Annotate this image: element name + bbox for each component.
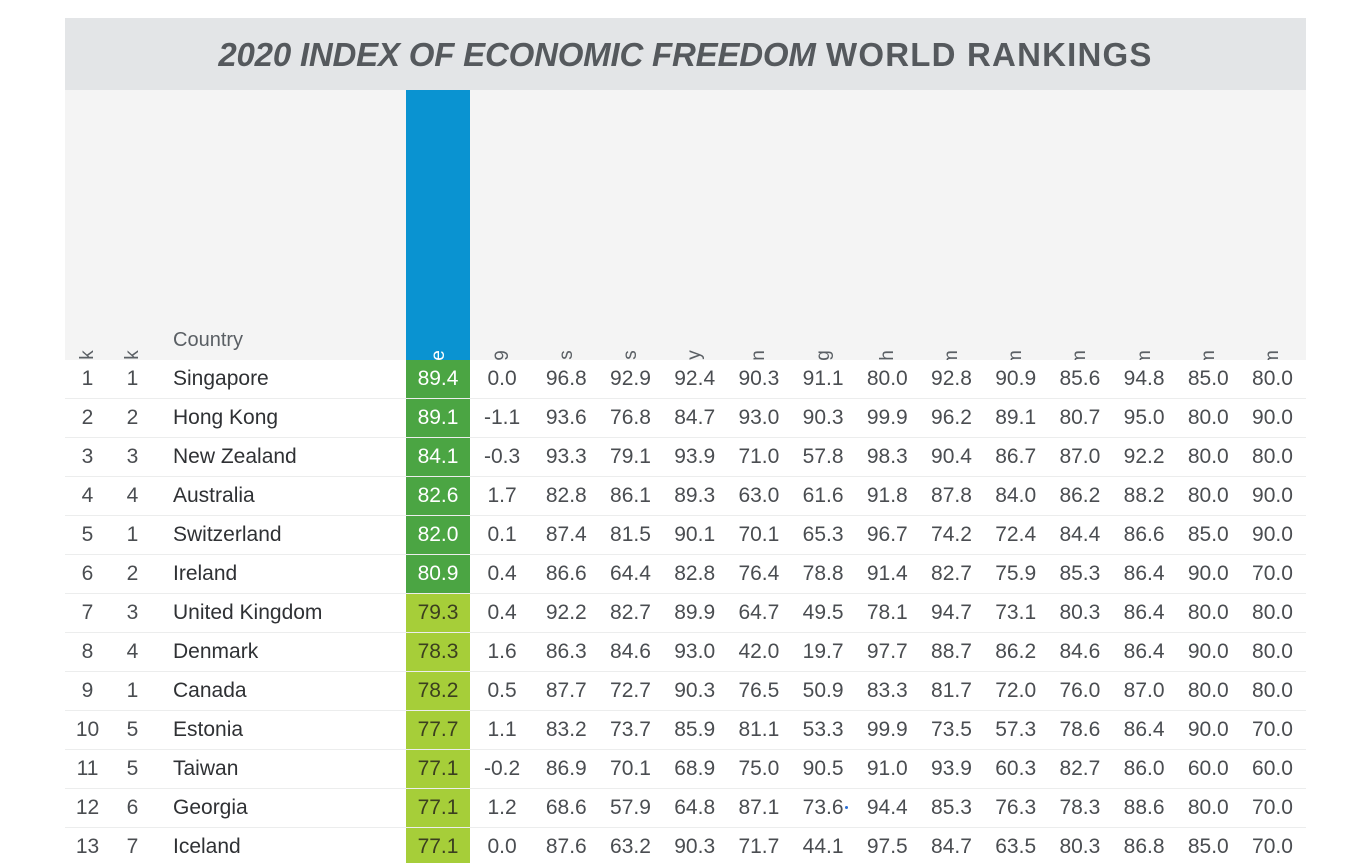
cell-business_freedom: 81.7 (919, 672, 983, 710)
cell-government_integrity: 84.7 (663, 399, 727, 437)
cell-fiscal_health: 96.7 (855, 516, 919, 554)
cell-monetary_freedom: 87.0 (1048, 438, 1112, 476)
cell-regional-rank: 6 (110, 789, 155, 827)
cell-trade_freedom: 88.2 (1112, 477, 1176, 515)
cell-judicial_effectiveness: 72.7 (598, 672, 662, 710)
cell-monetary_freedom: 82.7 (1048, 750, 1112, 788)
cell-business_freedom: 93.9 (919, 750, 983, 788)
cell-trade_freedom: 86.0 (1112, 750, 1176, 788)
cell-labor_freedom: 89.1 (984, 399, 1048, 437)
cell-country: Taiwan (173, 750, 406, 788)
cell-property_rights: 86.3 (534, 633, 598, 671)
cell-trade_freedom: 86.4 (1112, 594, 1176, 632)
cell-world-rank: 9 (65, 672, 110, 710)
cell-tax_burden: 76.4 (727, 555, 791, 593)
cell-business_freedom: 88.7 (919, 633, 983, 671)
cell-monetary_freedom: 76.0 (1048, 672, 1112, 710)
cell-tax_burden: 70.1 (727, 516, 791, 554)
cell-investment_freedom: 80.0 (1176, 594, 1240, 632)
cell-financial_freedom: 80.0 (1240, 360, 1304, 398)
table-row[interactable]: 62Ireland80.90.486.664.482.876.478.891.4… (65, 555, 1306, 594)
cell-business_freedom: 90.4 (919, 438, 983, 476)
cell-trade_freedom: 86.4 (1112, 555, 1176, 593)
cell-investment_freedom: 80.0 (1176, 477, 1240, 515)
cell-fiscal_health: 99.9 (855, 399, 919, 437)
cell-government_integrity: 82.8 (663, 555, 727, 593)
cell-property_rights: 87.6 (534, 828, 598, 863)
cell-world-rank: 3 (65, 438, 110, 476)
cell-change_from_2019: 0.0 (470, 360, 534, 398)
ranking-table-page: 2020 INDEX OF ECONOMIC FREEDOM WORLD RAN… (0, 0, 1367, 863)
cell-financial_freedom: 90.0 (1240, 399, 1304, 437)
cell-investment_freedom: 80.0 (1176, 438, 1240, 476)
cell-tax_burden: 42.0 (727, 633, 791, 671)
table-row[interactable]: 137Iceland77.10.087.663.290.371.744.197.… (65, 828, 1306, 863)
cell-judicial_effectiveness: 70.1 (598, 750, 662, 788)
cell-regional-rank: 2 (110, 555, 155, 593)
cell-investment_freedom: 60.0 (1176, 750, 1240, 788)
cell-investment_freedom: 80.0 (1176, 672, 1240, 710)
cell-overall-score: 77.1 (406, 750, 470, 788)
cell-world-rank: 5 (65, 516, 110, 554)
cell-judicial_effectiveness: 84.6 (598, 633, 662, 671)
cell-judicial_effectiveness: 81.5 (598, 516, 662, 554)
cell-country: Australia (173, 477, 406, 515)
cell-government_spending: 90.3 (791, 399, 855, 437)
cell-financial_freedom: 60.0 (1240, 750, 1304, 788)
cell-investment_freedom: 85.0 (1176, 828, 1240, 863)
cell-tax_burden: 71.0 (727, 438, 791, 476)
cell-monetary_freedom: 84.4 (1048, 516, 1112, 554)
cell-investment_freedom: 90.0 (1176, 711, 1240, 749)
cell-business_freedom: 96.2 (919, 399, 983, 437)
column-header-investment_freedom[interactable]: Investment Freedom (1176, 90, 1240, 360)
cell-fiscal_health: 91.0 (855, 750, 919, 788)
cell-world-rank: 13 (65, 828, 110, 863)
cell-labor_freedom: 86.7 (984, 438, 1048, 476)
cell-tax_burden: 64.7 (727, 594, 791, 632)
cell-country: New Zealand (173, 438, 406, 476)
cell-trade_freedom: 94.8 (1112, 360, 1176, 398)
cell-trade_freedom: 88.6 (1112, 789, 1176, 827)
cell-financial_freedom: 80.0 (1240, 438, 1304, 476)
cell-country: Singapore (173, 360, 406, 398)
cell-tax_burden: 81.1 (727, 711, 791, 749)
column-header-labor_freedom[interactable]: Labor Freedom (984, 90, 1048, 360)
cell-judicial_effectiveness: 76.8 (598, 399, 662, 437)
cell-overall-score: 89.1 (406, 399, 470, 437)
cell-judicial_effectiveness: 79.1 (598, 438, 662, 476)
cell-tax_burden: 93.0 (727, 399, 791, 437)
cell-world-rank: 2 (65, 399, 110, 437)
cell-government_integrity: 89.3 (663, 477, 727, 515)
cell-investment_freedom: 80.0 (1176, 399, 1240, 437)
cell-change_from_2019: 0.1 (470, 516, 534, 554)
column-header-judicial_effectiveness[interactable]: Judicial Effectiveness (598, 90, 662, 360)
cell-regional-rank: 1 (110, 516, 155, 554)
cell-investment_freedom: 90.0 (1176, 633, 1240, 671)
cell-business_freedom: 74.2 (919, 516, 983, 554)
cell-tax_burden: 75.0 (727, 750, 791, 788)
cell-change_from_2019: 0.0 (470, 828, 534, 863)
cell-tax_burden: 76.5 (727, 672, 791, 710)
cell-regional-rank: 5 (110, 750, 155, 788)
cell-labor_freedom: 76.3 (984, 789, 1048, 827)
cell-fiscal_health: 97.5 (855, 828, 919, 863)
cell-financial_freedom: 80.0 (1240, 672, 1304, 710)
cell-world-rank: 6 (65, 555, 110, 593)
cell-government_spending: 57.8 (791, 438, 855, 476)
cell-judicial_effectiveness: 63.2 (598, 828, 662, 863)
cell-government_integrity: 85.9 (663, 711, 727, 749)
page-title-emphasis: 2020 INDEX OF ECONOMIC FREEDOM (218, 36, 815, 73)
cell-change_from_2019: 1.1 (470, 711, 534, 749)
cell-change_from_2019: 1.2 (470, 789, 534, 827)
cell-fiscal_health: 98.3 (855, 438, 919, 476)
cell-property_rights: 87.7 (534, 672, 598, 710)
table-row[interactable]: 11Singapore89.40.096.892.992.490.391.180… (65, 360, 1306, 399)
column-header-change_from_2019[interactable]: Change from 2019 (470, 90, 534, 360)
cell-monetary_freedom: 80.3 (1048, 828, 1112, 863)
cell-tax_burden: 87.1 (727, 789, 791, 827)
cell-overall-score: 78.2 (406, 672, 470, 710)
cell-monetary_freedom: 78.6 (1048, 711, 1112, 749)
cell-country: Switzerland (173, 516, 406, 554)
cell-labor_freedom: 72.4 (984, 516, 1048, 554)
cell-change_from_2019: -0.2 (470, 750, 534, 788)
cell-property_rights: 93.6 (534, 399, 598, 437)
cell-financial_freedom: 90.0 (1240, 516, 1304, 554)
cell-country: Canada (173, 672, 406, 710)
cell-overall-score: 78.3 (406, 633, 470, 671)
cell-overall-score: 89.4 (406, 360, 470, 398)
cell-regional-rank: 4 (110, 477, 155, 515)
column-header-world_rank[interactable]: World Rank (65, 90, 110, 360)
cell-change_from_2019: -1.1 (470, 399, 534, 437)
cell-overall-score: 82.6 (406, 477, 470, 515)
column-header-overall_score[interactable]: Overall Score (406, 90, 470, 360)
cell-regional-rank: 3 (110, 594, 155, 632)
page-title-plain: WORLD RANKINGS (816, 36, 1153, 73)
page-title: 2020 INDEX OF ECONOMIC FREEDOM WORLD RAN… (218, 38, 1152, 71)
table-row[interactable]: 105Estonia77.71.183.273.785.981.153.399.… (65, 711, 1306, 750)
cell-regional-rank: 2 (110, 399, 155, 437)
cell-labor_freedom: 57.3 (984, 711, 1048, 749)
cell-fiscal_health: 94.4 (855, 789, 919, 827)
cell-trade_freedom: 87.0 (1112, 672, 1176, 710)
cell-government_spending: 49.5 (791, 594, 855, 632)
table-body: 11Singapore89.40.096.892.992.490.391.180… (65, 360, 1306, 863)
cell-government_spending: 90.5 (791, 750, 855, 788)
cell-change_from_2019: 0.4 (470, 555, 534, 593)
cell-government_integrity: 90.3 (663, 672, 727, 710)
cell-change_from_2019: 1.6 (470, 633, 534, 671)
cell-world-rank: 8 (65, 633, 110, 671)
cell-fiscal_health: 91.4 (855, 555, 919, 593)
cell-judicial_effectiveness: 86.1 (598, 477, 662, 515)
table-header-row: World RankRegional RankCountryOverall Sc… (65, 90, 1306, 360)
cell-government_spending: 91.1 (791, 360, 855, 398)
cell-trade_freedom: 86.4 (1112, 633, 1176, 671)
cell-monetary_freedom: 80.7 (1048, 399, 1112, 437)
cell-regional-rank: 3 (110, 438, 155, 476)
cell-government_integrity: 90.1 (663, 516, 727, 554)
table-row[interactable]: 126Georgia77.11.268.657.964.887.173.694.… (65, 789, 1306, 828)
cell-judicial_effectiveness: 57.9 (598, 789, 662, 827)
table-row[interactable]: 91Canada78.20.587.772.790.376.550.983.38… (65, 672, 1306, 711)
cell-government_integrity: 93.0 (663, 633, 727, 671)
table-title-band: 2020 INDEX OF ECONOMIC FREEDOM WORLD RAN… (65, 18, 1306, 90)
cell-monetary_freedom: 86.2 (1048, 477, 1112, 515)
table-row[interactable]: 84Denmark78.31.686.384.693.042.019.797.7… (65, 633, 1306, 672)
cell-labor_freedom: 63.5 (984, 828, 1048, 863)
cell-property_rights: 82.8 (534, 477, 598, 515)
cell-country: Ireland (173, 555, 406, 593)
cell-government_integrity: 93.9 (663, 438, 727, 476)
cell-regional-rank: 1 (110, 672, 155, 710)
cell-overall-score: 77.7 (406, 711, 470, 749)
cell-regional-rank: 5 (110, 711, 155, 749)
cell-country: Denmark (173, 633, 406, 671)
column-header-country[interactable]: Country (173, 329, 243, 352)
cell-trade_freedom: 86.6 (1112, 516, 1176, 554)
cell-tax_burden: 63.0 (727, 477, 791, 515)
cell-property_rights: 93.3 (534, 438, 598, 476)
cell-overall-score: 77.1 (406, 828, 470, 863)
cell-monetary_freedom: 78.3 (1048, 789, 1112, 827)
cell-world-rank: 11 (65, 750, 110, 788)
cell-change_from_2019: -0.3 (470, 438, 534, 476)
cell-government_integrity: 64.8 (663, 789, 727, 827)
column-header-tax_burden[interactable]: Tax Burden (727, 90, 791, 360)
cell-business_freedom: 94.7 (919, 594, 983, 632)
cell-property_rights: 83.2 (534, 711, 598, 749)
cell-government_spending: 44.1 (791, 828, 855, 863)
cell-property_rights: 92.2 (534, 594, 598, 632)
column-header-regional_rank[interactable]: Regional Rank (110, 90, 155, 360)
cell-fiscal_health: 83.3 (855, 672, 919, 710)
cell-government_spending: 19.7 (791, 633, 855, 671)
cell-judicial_effectiveness: 82.7 (598, 594, 662, 632)
cell-overall-score: 77.1 (406, 789, 470, 827)
cell-fiscal_health: 80.0 (855, 360, 919, 398)
cell-government_integrity: 68.9 (663, 750, 727, 788)
cell-financial_freedom: 80.0 (1240, 633, 1304, 671)
cell-change_from_2019: 0.5 (470, 672, 534, 710)
cell-trade_freedom: 95.0 (1112, 399, 1176, 437)
cell-country: Georgia (173, 789, 406, 827)
cell-regional-rank: 1 (110, 360, 155, 398)
page-top-margin (0, 0, 1367, 18)
cell-government_integrity: 89.9 (663, 594, 727, 632)
cell-judicial_effectiveness: 92.9 (598, 360, 662, 398)
cell-government_spending: 78.8 (791, 555, 855, 593)
cell-financial_freedom: 70.0 (1240, 711, 1304, 749)
cell-financial_freedom: 70.0 (1240, 555, 1304, 593)
cell-government_integrity: 90.3 (663, 828, 727, 863)
cell-business_freedom: 82.7 (919, 555, 983, 593)
cell-overall-score: 80.9 (406, 555, 470, 593)
table-row[interactable]: 22Hong Kong89.1-1.193.676.884.793.090.39… (65, 399, 1306, 438)
cell-government_spending: 65.3 (791, 516, 855, 554)
cell-monetary_freedom: 85.6 (1048, 360, 1112, 398)
cell-judicial_effectiveness: 73.7 (598, 711, 662, 749)
cell-world-rank: 4 (65, 477, 110, 515)
cell-country: Estonia (173, 711, 406, 749)
cell-business_freedom: 87.8 (919, 477, 983, 515)
cell-government_integrity: 92.4 (663, 360, 727, 398)
cell-labor_freedom: 72.0 (984, 672, 1048, 710)
column-header-government_integrity[interactable]: Government Integrity (663, 90, 727, 360)
table-row[interactable]: 115Taiwan77.1-0.286.970.168.975.090.591.… (65, 750, 1306, 789)
column-header-property_rights[interactable]: Property Rights (534, 90, 598, 360)
cell-property_rights: 87.4 (534, 516, 598, 554)
column-header-financial_freedom[interactable]: Financial Freedom (1240, 90, 1304, 360)
cell-labor_freedom: 75.9 (984, 555, 1048, 593)
cell-investment_freedom: 90.0 (1176, 555, 1240, 593)
cell-change_from_2019: 0.4 (470, 594, 534, 632)
cell-monetary_freedom: 85.3 (1048, 555, 1112, 593)
cell-labor_freedom: 84.0 (984, 477, 1048, 515)
cell-property_rights: 68.6 (534, 789, 598, 827)
cell-fiscal_health: 99.9 (855, 711, 919, 749)
table-row[interactable]: 33New Zealand84.1-0.393.379.193.971.057.… (65, 438, 1306, 477)
cell-government_spending: 61.6 (791, 477, 855, 515)
cell-fiscal_health: 97.7 (855, 633, 919, 671)
cell-country: Iceland (173, 828, 406, 863)
cell-trade_freedom: 92.2 (1112, 438, 1176, 476)
rankings-table: 2020 INDEX OF ECONOMIC FREEDOM WORLD RAN… (65, 18, 1306, 863)
cell-property_rights: 96.8 (534, 360, 598, 398)
cell-financial_freedom: 70.0 (1240, 789, 1304, 827)
cell-property_rights: 86.6 (534, 555, 598, 593)
column-header-monetary_freedom[interactable]: Monetary Freedom (1048, 90, 1112, 360)
column-header-trade_freedom[interactable]: Trade Freedom (1112, 90, 1176, 360)
cell-world-rank: 10 (65, 711, 110, 749)
table-row[interactable]: 51Switzerland82.00.187.481.590.170.165.3… (65, 516, 1306, 555)
cell-business_freedom: 85.3 (919, 789, 983, 827)
cell-financial_freedom: 90.0 (1240, 477, 1304, 515)
cell-fiscal_health: 91.8 (855, 477, 919, 515)
cell-business_freedom: 84.7 (919, 828, 983, 863)
cell-government_spending: 50.9 (791, 672, 855, 710)
column-header-business_freedom[interactable]: Business Freedom (919, 90, 983, 360)
table-row[interactable]: 73United Kingdom79.30.492.282.789.964.74… (65, 594, 1306, 633)
cell-investment_freedom: 85.0 (1176, 516, 1240, 554)
cell-judicial_effectiveness: 64.4 (598, 555, 662, 593)
cell-change_from_2019: 1.7 (470, 477, 534, 515)
cell-government_spending: 53.3 (791, 711, 855, 749)
cell-regional-rank: 4 (110, 633, 155, 671)
cell-trade_freedom: 86.8 (1112, 828, 1176, 863)
cell-labor_freedom: 90.9 (984, 360, 1048, 398)
cell-trade_freedom: 86.4 (1112, 711, 1176, 749)
column-header-government_spending[interactable]: Government Spending (791, 90, 855, 360)
cell-investment_freedom: 80.0 (1176, 789, 1240, 827)
cell-overall-score: 82.0 (406, 516, 470, 554)
cell-fiscal_health: 78.1 (855, 594, 919, 632)
cell-world-rank: 1 (65, 360, 110, 398)
cell-tax_burden: 71.7 (727, 828, 791, 863)
cell-labor_freedom: 86.2 (984, 633, 1048, 671)
cell-world-rank: 7 (65, 594, 110, 632)
cell-business_freedom: 92.8 (919, 360, 983, 398)
cell-country: United Kingdom (173, 594, 406, 632)
cell-property_rights: 86.9 (534, 750, 598, 788)
cell-monetary_freedom: 84.6 (1048, 633, 1112, 671)
column-header-fiscal_health[interactable]: Fiscal Health (855, 90, 919, 360)
cell-investment_freedom: 85.0 (1176, 360, 1240, 398)
cell-monetary_freedom: 80.3 (1048, 594, 1112, 632)
cell-overall-score: 84.1 (406, 438, 470, 476)
cell-labor_freedom: 60.3 (984, 750, 1048, 788)
cell-financial_freedom: 80.0 (1240, 594, 1304, 632)
cell-overall-score: 79.3 (406, 594, 470, 632)
cell-business_freedom: 73.5 (919, 711, 983, 749)
cell-country: Hong Kong (173, 399, 406, 437)
cell-regional-rank: 7 (110, 828, 155, 863)
cell-tax_burden: 90.3 (727, 360, 791, 398)
table-row[interactable]: 44Australia82.61.782.886.189.363.061.691… (65, 477, 1306, 516)
cell-labor_freedom: 73.1 (984, 594, 1048, 632)
cell-world-rank: 12 (65, 789, 110, 827)
cell-financial_freedom: 70.0 (1240, 828, 1304, 863)
